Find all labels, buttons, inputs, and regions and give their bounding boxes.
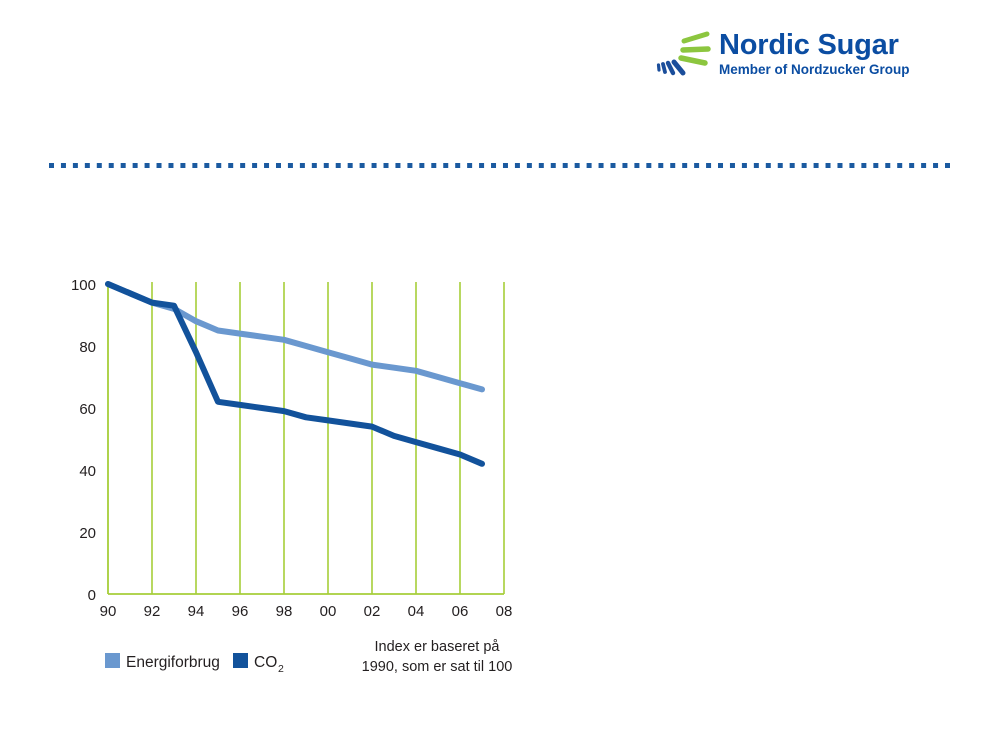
legend-label-co2-subscript: 2 bbox=[278, 663, 284, 675]
y-tick-100: 100 bbox=[71, 277, 96, 294]
divider-dot bbox=[885, 163, 890, 168]
divider-dot bbox=[599, 163, 604, 168]
y-tick-80: 80 bbox=[79, 339, 96, 356]
divider-dot bbox=[754, 163, 759, 168]
x-tick-96: 96 bbox=[232, 603, 249, 620]
chart-note-line-1: Index er baseret på bbox=[375, 639, 501, 655]
divider-dot bbox=[670, 163, 675, 168]
fan-burst-icon bbox=[655, 30, 711, 80]
divider-dot bbox=[706, 163, 711, 168]
divider-dot bbox=[587, 163, 592, 168]
divider-dot bbox=[897, 163, 902, 168]
divider-dot bbox=[622, 163, 627, 168]
chart-axes bbox=[108, 282, 504, 594]
divider-dot bbox=[778, 163, 783, 168]
divider-dot bbox=[826, 163, 831, 168]
divider-dot bbox=[646, 163, 651, 168]
y-tick-60: 60 bbox=[79, 401, 96, 418]
brand-name: Nordic Sugar bbox=[719, 30, 910, 60]
x-tick-06: 06 bbox=[452, 603, 469, 620]
brand-tagline: Member of Nordzucker Group bbox=[719, 62, 910, 78]
divider-dot bbox=[873, 163, 878, 168]
divider-dot bbox=[837, 163, 842, 168]
divider-dot bbox=[802, 163, 807, 168]
chart-series bbox=[108, 284, 482, 464]
divider-dot bbox=[945, 163, 950, 168]
divider-dot bbox=[563, 163, 568, 168]
divider-dot bbox=[790, 163, 795, 168]
divider-dot bbox=[575, 163, 580, 168]
y-tick-20: 20 bbox=[79, 525, 96, 542]
series-line-energiforbrug bbox=[108, 284, 482, 389]
x-tick-94: 94 bbox=[188, 603, 205, 620]
chart-note: Index er baseret på 1990, som er sat til… bbox=[362, 639, 513, 675]
x-axis-tick-labels: 90929496980002040608 bbox=[100, 603, 513, 620]
brand-logo: Nordic Sugar Member of Nordzucker Group bbox=[655, 28, 905, 84]
brand-wordmark: Nordic Sugar Member of Nordzucker Group bbox=[719, 28, 910, 78]
legend-label-co2: CO bbox=[254, 654, 277, 671]
y-tick-40: 40 bbox=[79, 463, 96, 480]
divider-dot bbox=[658, 163, 663, 168]
divider-dot bbox=[766, 163, 771, 168]
divider-dot bbox=[849, 163, 854, 168]
divider-dot bbox=[921, 163, 926, 168]
x-tick-02: 02 bbox=[364, 603, 381, 620]
legend-swatch-energiforbrug bbox=[105, 653, 120, 668]
divider-dot bbox=[909, 163, 914, 168]
y-axis-tick-labels: 020406080100 bbox=[71, 277, 96, 604]
x-tick-00: 00 bbox=[320, 603, 337, 620]
divider-dot bbox=[682, 163, 687, 168]
y-tick-0: 0 bbox=[88, 587, 96, 604]
x-tick-98: 98 bbox=[276, 603, 293, 620]
divider-dot bbox=[814, 163, 819, 168]
chart-note-line-2: 1990, som er sat til 100 bbox=[362, 659, 513, 675]
chart-legend: Energiforbrug CO 2 bbox=[105, 653, 284, 675]
x-tick-08: 08 bbox=[496, 603, 513, 620]
divider-dot bbox=[742, 163, 747, 168]
divider-dot bbox=[861, 163, 866, 168]
x-tick-92: 92 bbox=[144, 603, 161, 620]
x-tick-90: 90 bbox=[100, 603, 117, 620]
chart-gridlines bbox=[152, 282, 504, 594]
divider-dot bbox=[730, 163, 735, 168]
divider-dot bbox=[933, 163, 938, 168]
legend-swatch-co2 bbox=[233, 653, 248, 668]
legend-label-energiforbrug: Energiforbrug bbox=[126, 654, 220, 671]
divider-dot bbox=[694, 163, 699, 168]
divider-dot bbox=[610, 163, 615, 168]
divider-dot bbox=[634, 163, 639, 168]
divider-dot bbox=[718, 163, 723, 168]
x-tick-04: 04 bbox=[408, 603, 425, 620]
energy-co2-index-chart: 020406080100 90929496980002040608 Energi… bbox=[0, 0, 560, 700]
